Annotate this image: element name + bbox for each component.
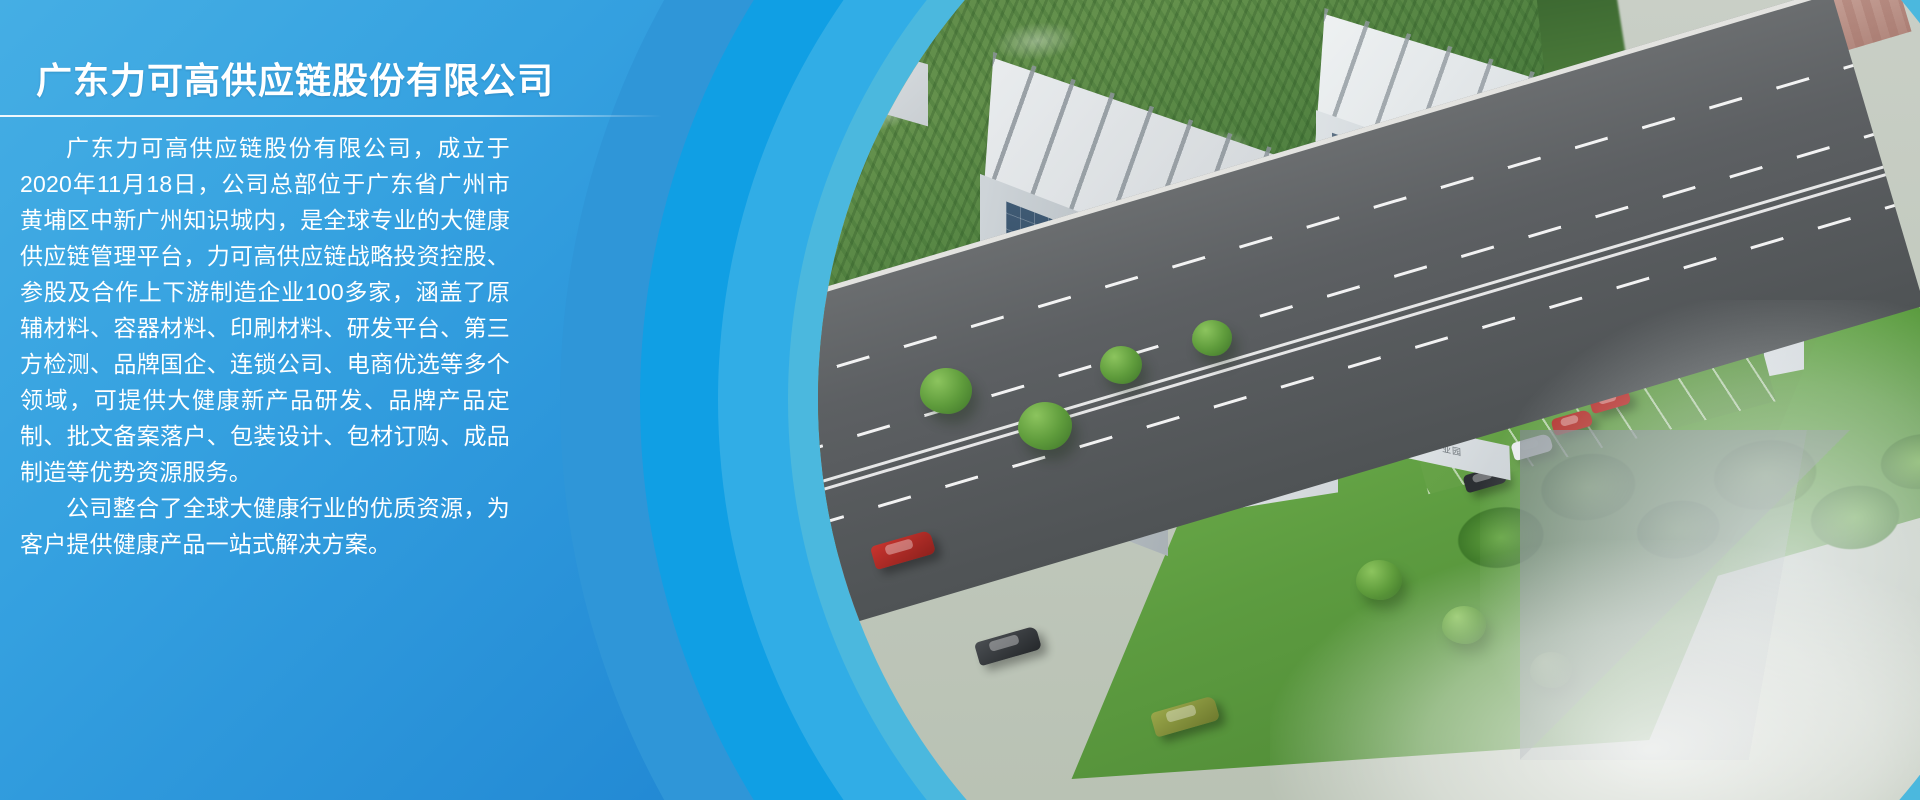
street-tree-6 bbox=[1442, 606, 1486, 644]
title-divider bbox=[0, 115, 662, 117]
intro-paragraph-1: 广东力可高供应链股份有限公司，成立于2020年11月18日，公司总部位于广东省广… bbox=[20, 130, 510, 490]
intro-paragraph-2: 公司整合了全球大健康行业的优质资源，为客户提供健康产品一站式解决方案。 bbox=[20, 490, 510, 562]
intro-body: 广东力可高供应链股份有限公司，成立于2020年11月18日，公司总部位于广东省广… bbox=[20, 130, 510, 562]
page-title: 广东力可高供应链股份有限公司 bbox=[36, 52, 554, 104]
campus-photo-circle: 力可高供应链产业园 bbox=[818, 0, 1920, 800]
street-tree-5 bbox=[1356, 560, 1402, 600]
intro-text-column: 广东力可高供应链股份有限公司 广东力可高供应链股份有限公司，成立于2020年11… bbox=[0, 0, 700, 800]
street-tree-2 bbox=[1018, 402, 1072, 450]
company-intro-banner: 力可高供应链产业园 bbox=[0, 0, 1920, 800]
street-tree-4 bbox=[1192, 320, 1232, 356]
campus-aerial-photo: 力可高供应链产业园 bbox=[818, 0, 1920, 800]
street-tree-3 bbox=[1100, 346, 1142, 384]
background-buildings-faded bbox=[1520, 430, 1920, 760]
road-car-dark bbox=[974, 626, 1042, 667]
street-tree-1 bbox=[920, 368, 972, 414]
